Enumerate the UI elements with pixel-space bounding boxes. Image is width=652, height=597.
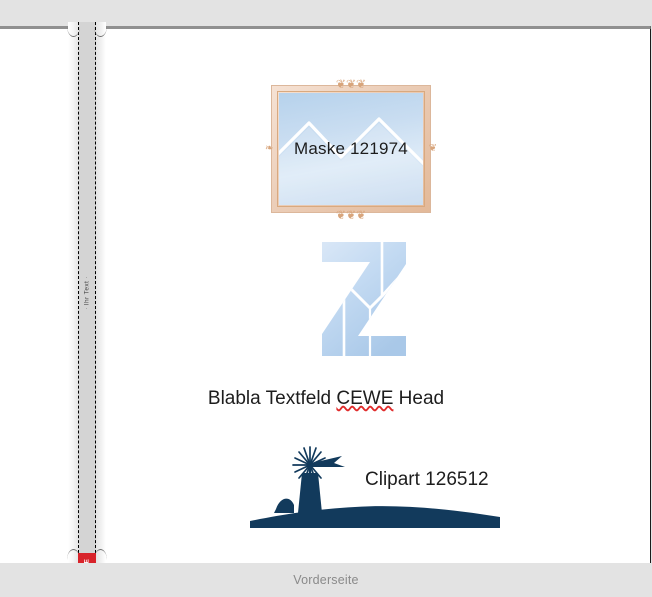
clipart-element[interactable]: Clipart 126512 [250,443,500,528]
mask-label: Maske 121974 [279,139,423,159]
clipart-label: Clipart 126512 [365,469,489,491]
spine-text-label: Ihr Text [84,280,91,304]
textfield-suffix: Head [393,388,444,409]
mask-photo-frame[interactable]: Maske 121974 ❦❦❦ ❦❦❦ ❧ ❦ [271,85,431,213]
frame-ornament-top-icon: ❦❦❦ [336,78,366,90]
frame-ornament-right-icon: ❦ [429,144,437,154]
bottom-caption-bar: Vorderseite [0,563,652,597]
spine-bullet-right: · [84,276,90,278]
mask-photo-content[interactable]: Maske 121974 [279,93,423,205]
frame-ornament-left-icon: ❧ [265,144,273,154]
textfield-spellcheck-word: CEWE [336,388,393,409]
spine-text-field[interactable]: · Ihr Text · [84,276,91,309]
text-field-blabla[interactable]: Blabla Textfeld CEWE Head [0,388,652,410]
z-letter-icon [318,240,410,358]
book-spine[interactable]: · Ihr Text · CEWE [68,22,106,563]
z-logo-graphic[interactable] [318,240,410,358]
textfield-prefix: Blabla Textfeld [208,388,337,409]
frame-ornament-bottom-icon: ❦❦❦ [336,209,366,221]
spine-fold-line-left [78,22,79,563]
spine-fold-line-right [95,22,96,563]
page-side-caption: Vorderseite [293,573,358,587]
spine-bullet-left: · [84,307,90,309]
